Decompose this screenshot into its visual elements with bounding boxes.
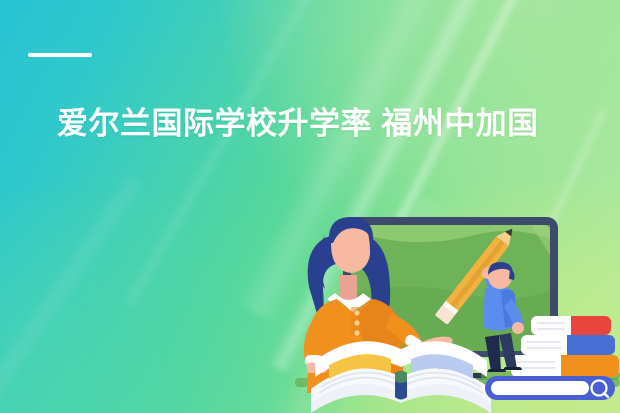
education-learning-illustration — [295, 195, 620, 413]
open-book-icon — [311, 341, 491, 413]
accent-dash — [28, 53, 92, 57]
background-tint-bottom-left — [0, 193, 340, 413]
search-bar[interactable] — [485, 376, 615, 400]
page-title: 爱尔兰国际学校升学率 福州中加国 — [57, 104, 620, 144]
article-cover-banner: 爱尔兰国际学校升学率 福州中加国 — [0, 0, 620, 413]
